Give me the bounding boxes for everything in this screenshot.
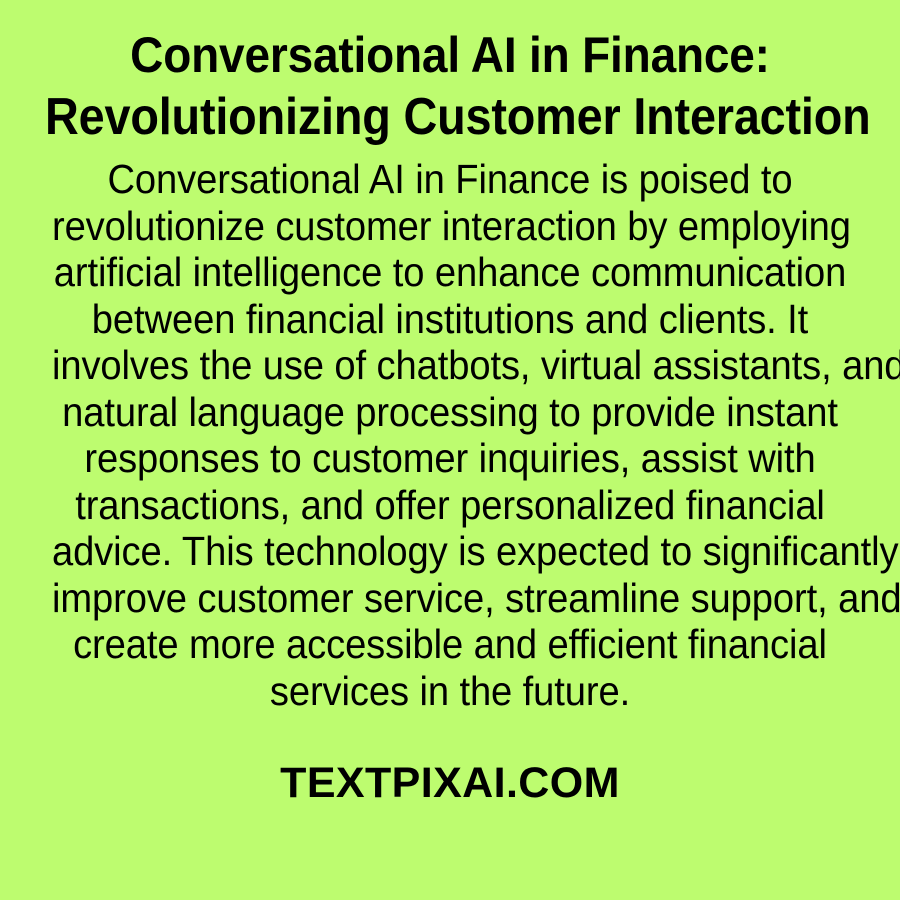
title-line-2: Revolutionizing Customer Interaction [45, 86, 855, 148]
body-line: between financial institutions and clien… [52, 296, 848, 343]
body-line: services in the future. [52, 668, 848, 715]
body-line: transactions, and offer personalized fin… [52, 482, 848, 529]
page-title: Conversational AI in Finance: Revolution… [0, 24, 900, 148]
body-line: natural language processing to provide i… [52, 389, 848, 436]
body-line: involves the use of chatbots, virtual as… [52, 342, 848, 389]
body-line: improve customer service, streamline sup… [52, 575, 848, 622]
watermark-container: TEXTPIXAI.COM [0, 758, 900, 808]
body-line: revolutionize customer interaction by em… [52, 203, 848, 250]
watermark-text: TEXTPIXAI.COM [280, 758, 620, 808]
body-line: artificial intelligence to enhance commu… [52, 249, 848, 296]
body-line: create more accessible and efficient fin… [52, 621, 848, 668]
body-line: advice. This technology is expected to s… [52, 528, 848, 575]
title-line-1: Conversational AI in Finance: [36, 24, 864, 86]
poster-canvas: Conversational AI in Finance: Revolution… [0, 0, 900, 900]
body-line: Conversational AI in Finance is poised t… [52, 156, 848, 203]
body-paragraph: Conversational AI in Finance is poised t… [22, 156, 878, 714]
body-line: responses to customer inquiries, assist … [52, 435, 848, 482]
